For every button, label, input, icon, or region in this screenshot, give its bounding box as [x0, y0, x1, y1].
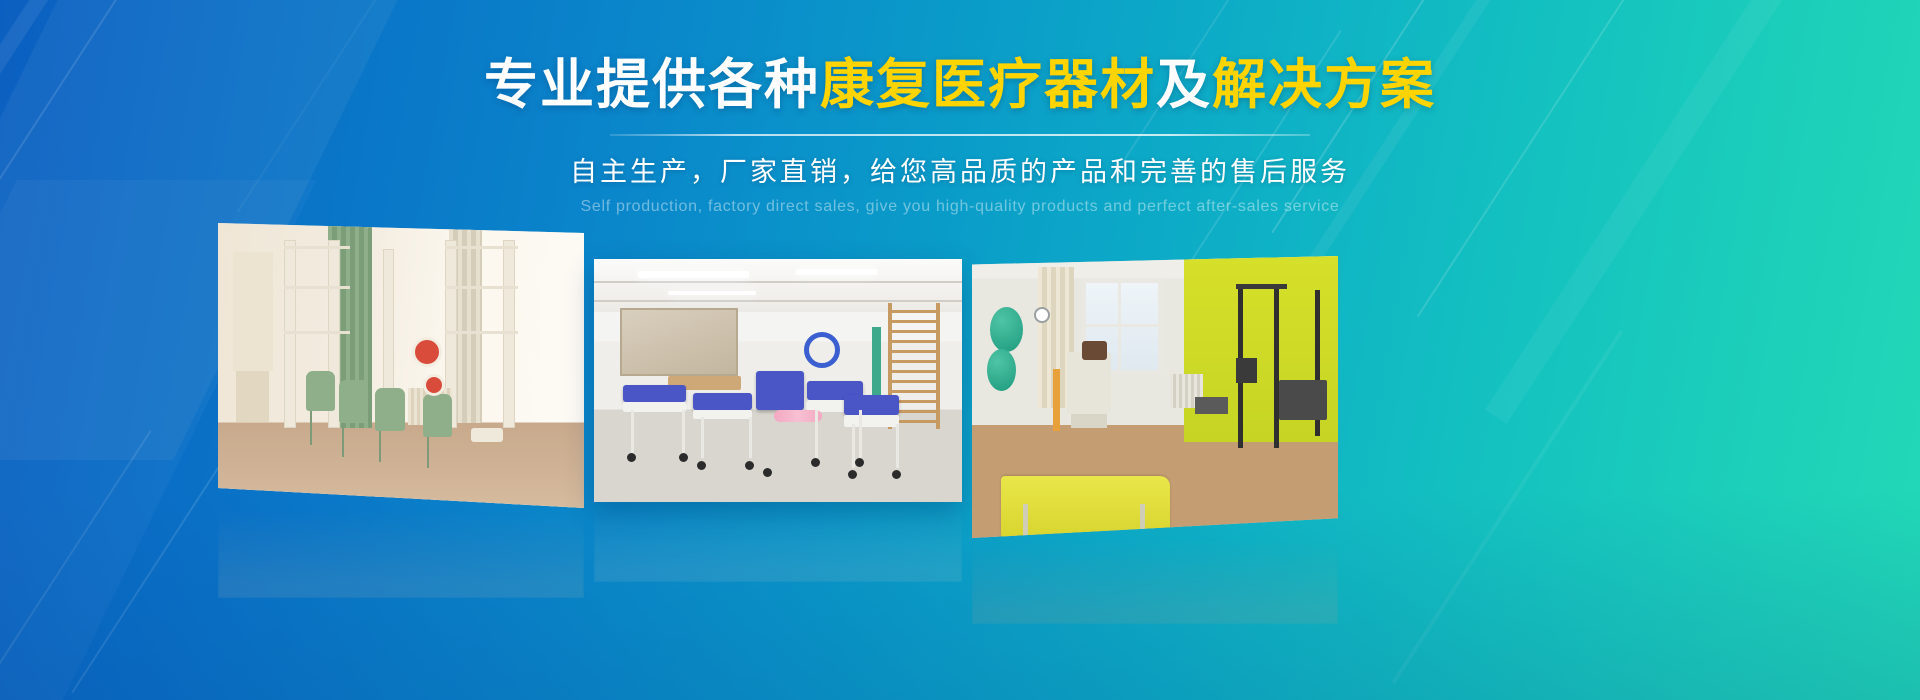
photo-strip	[0, 215, 1920, 535]
banner-headline: 专业提供各种康复医疗器材及解决方案	[0, 58, 1920, 112]
photo-yellow-wall-gym[interactable]	[972, 256, 1338, 538]
headline-segment-4: 解决方案	[1212, 55, 1436, 115]
headline-segment-1: 专业提供各种	[484, 55, 820, 115]
photo-reflection-3	[972, 538, 1338, 624]
promo-banner: 专业提供各种康复医疗器材及解决方案 自主生产，厂家直销，给您高品质的产品和完善的…	[0, 0, 1920, 700]
headline-segment-3: 及	[1156, 55, 1212, 115]
headline-segment-2: 康复医疗器材	[820, 55, 1156, 115]
headline-divider	[610, 134, 1310, 136]
subtitle-chinese: 自主生产，厂家直销，给您高品质的产品和完善的售后服务	[0, 150, 1920, 189]
banner-text-block: 专业提供各种康复医疗器材及解决方案 自主生产，厂家直销，给您高品质的产品和完善的…	[0, 58, 1920, 216]
subtitle-english: Self production, factory direct sales, g…	[0, 198, 1920, 216]
photo-therapy-hall[interactable]	[594, 259, 962, 502]
photo-rehab-training-room[interactable]	[218, 223, 584, 508]
